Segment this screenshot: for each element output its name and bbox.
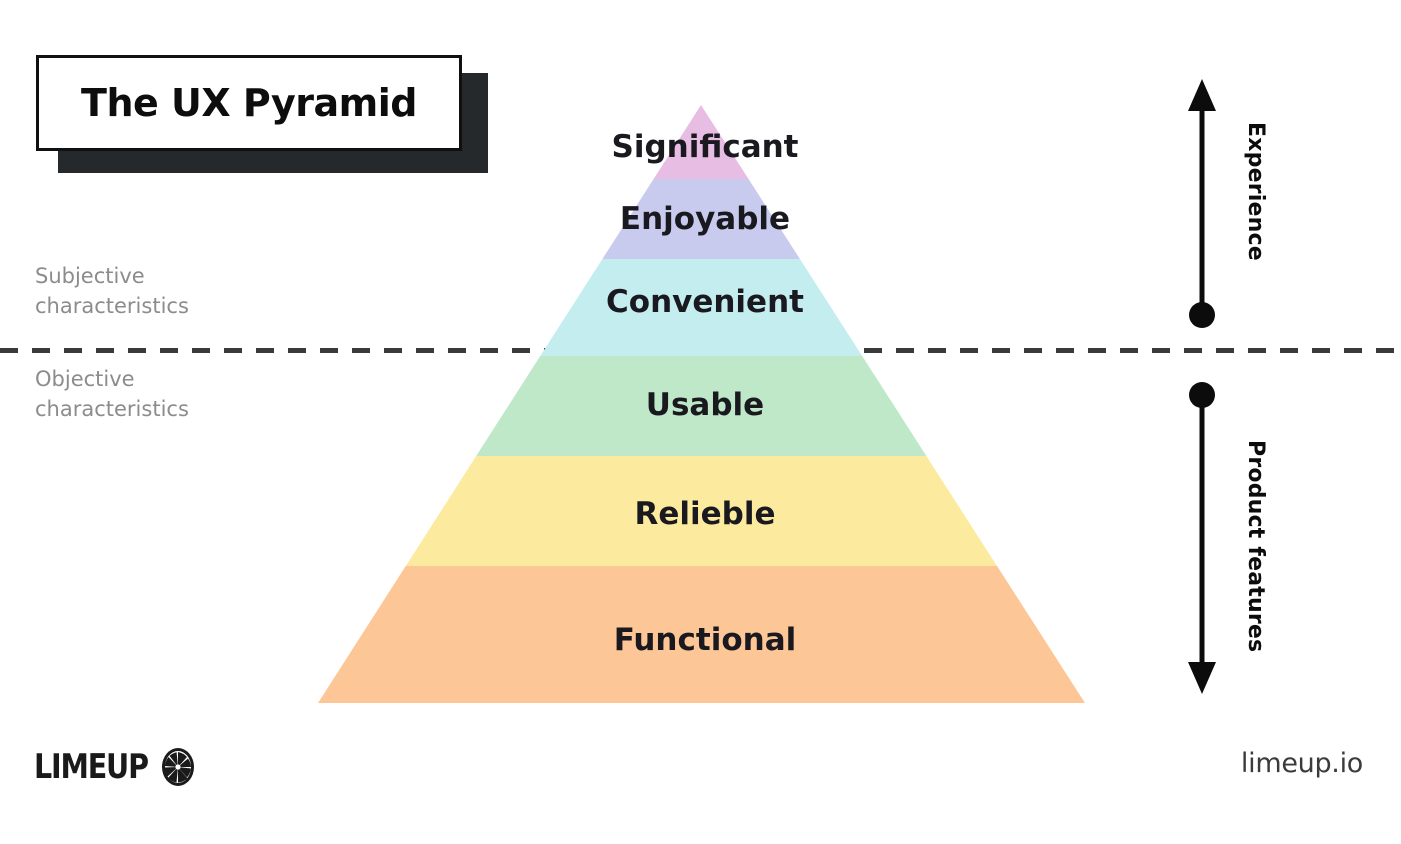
pyramid-band-enjoyable (300, 179, 1110, 259)
ux-pyramid-infographic: The UX Pyramid Subjective characteristic… (0, 0, 1401, 844)
experience-axis-arrow (1168, 75, 1238, 330)
pyramid-band-usable (300, 356, 1110, 456)
product-features-axis-label: Product features (1243, 440, 1268, 652)
pyramid-chart: Significant Enjoyable Convenient Usable … (300, 95, 1110, 720)
axis-endpoint-dot (1189, 302, 1215, 328)
limeup-logo-text: LIMEUP (34, 750, 148, 784)
pyramid-band-functional (300, 566, 1110, 720)
pyramid-band-convenient (300, 259, 1110, 356)
arrow-head-down-icon (1188, 662, 1216, 694)
product-features-axis-arrow (1168, 378, 1238, 698)
limeup-logo: LIMEUP (34, 745, 198, 789)
pyramid-band-relieble (300, 456, 1110, 566)
lime-slice-icon (158, 745, 198, 789)
experience-axis-label: Experience (1243, 122, 1268, 261)
caption-subjective-characteristics: Subjective characteristics (35, 262, 189, 322)
site-url[interactable]: limeup.io (1241, 748, 1363, 779)
pyramid-band-significant (300, 95, 1110, 179)
caption-objective-characteristics: Objective characteristics (35, 365, 189, 425)
